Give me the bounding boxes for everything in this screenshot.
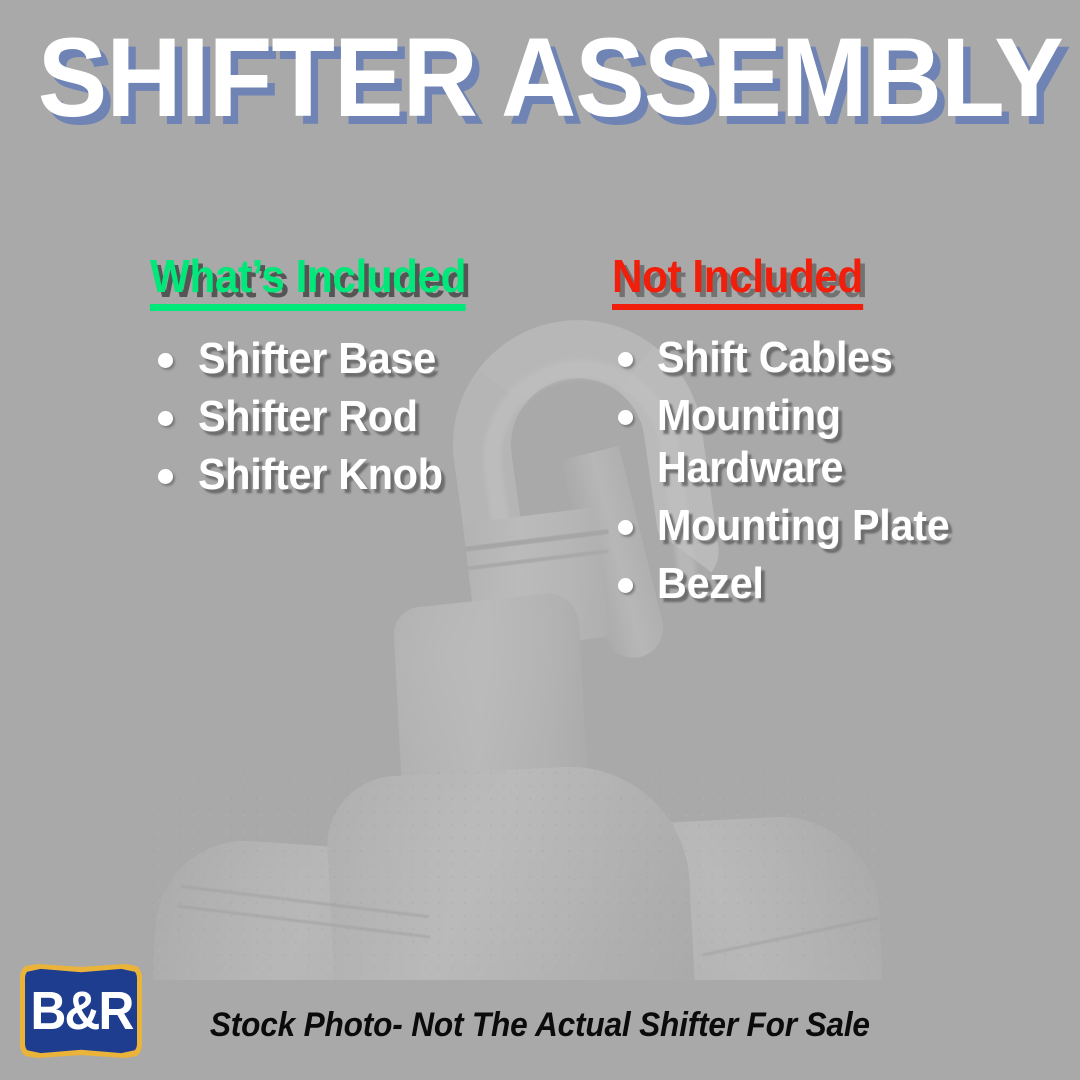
bullet-icon bbox=[618, 352, 633, 367]
list-item: Shifter Rod bbox=[150, 391, 590, 443]
bullet-icon bbox=[618, 578, 633, 593]
bullet-icon bbox=[158, 353, 173, 368]
list-item-label: Shifter Knob bbox=[198, 449, 443, 501]
bullet-icon bbox=[618, 410, 633, 425]
list-item-label: Shifter Rod bbox=[198, 391, 418, 443]
list-item: Mounting Plate bbox=[612, 500, 1012, 552]
bullet-icon bbox=[618, 520, 633, 535]
list-item-label: Bezel bbox=[657, 558, 764, 610]
list-item: Bezel bbox=[612, 558, 1012, 610]
page-title: SHIFTER ASSEMBLY bbox=[38, 22, 1042, 134]
list-item: Shifter Base bbox=[150, 333, 590, 385]
included-column: What’s Included Shifter Base Shifter Rod… bbox=[150, 252, 590, 507]
list-item-label: Shift Cables bbox=[657, 332, 893, 384]
stock-photo-disclaimer: Stock Photo- Not The Actual Shifter For … bbox=[0, 1006, 1080, 1045]
leather-grain-texture bbox=[150, 770, 890, 980]
bullet-icon bbox=[158, 469, 173, 484]
disclaimer-text: Stock Photo- Not The Actual Shifter For … bbox=[210, 1006, 870, 1045]
not-included-column: Not Included Shift Cables Mounting Hardw… bbox=[612, 252, 1012, 616]
included-list: Shifter Base Shifter Rod Shifter Knob bbox=[150, 333, 590, 501]
list-item-label: Mounting Hardware bbox=[657, 390, 991, 494]
list-item: Shift Cables bbox=[612, 332, 1012, 384]
list-item: Mounting Hardware bbox=[612, 390, 1012, 494]
list-item-label: Shifter Base bbox=[198, 333, 436, 385]
list-item: Shifter Knob bbox=[150, 449, 590, 501]
included-heading: What’s Included bbox=[150, 252, 466, 311]
not-included-heading: Not Included bbox=[612, 252, 863, 310]
not-included-list: Shift Cables Mounting Hardware Mounting … bbox=[612, 332, 1012, 610]
product-listing-graphic: SHIFTER ASSEMBLY What’s Included Shifter… bbox=[0, 0, 1080, 1080]
list-item-label: Mounting Plate bbox=[657, 500, 949, 552]
bullet-icon bbox=[158, 411, 173, 426]
